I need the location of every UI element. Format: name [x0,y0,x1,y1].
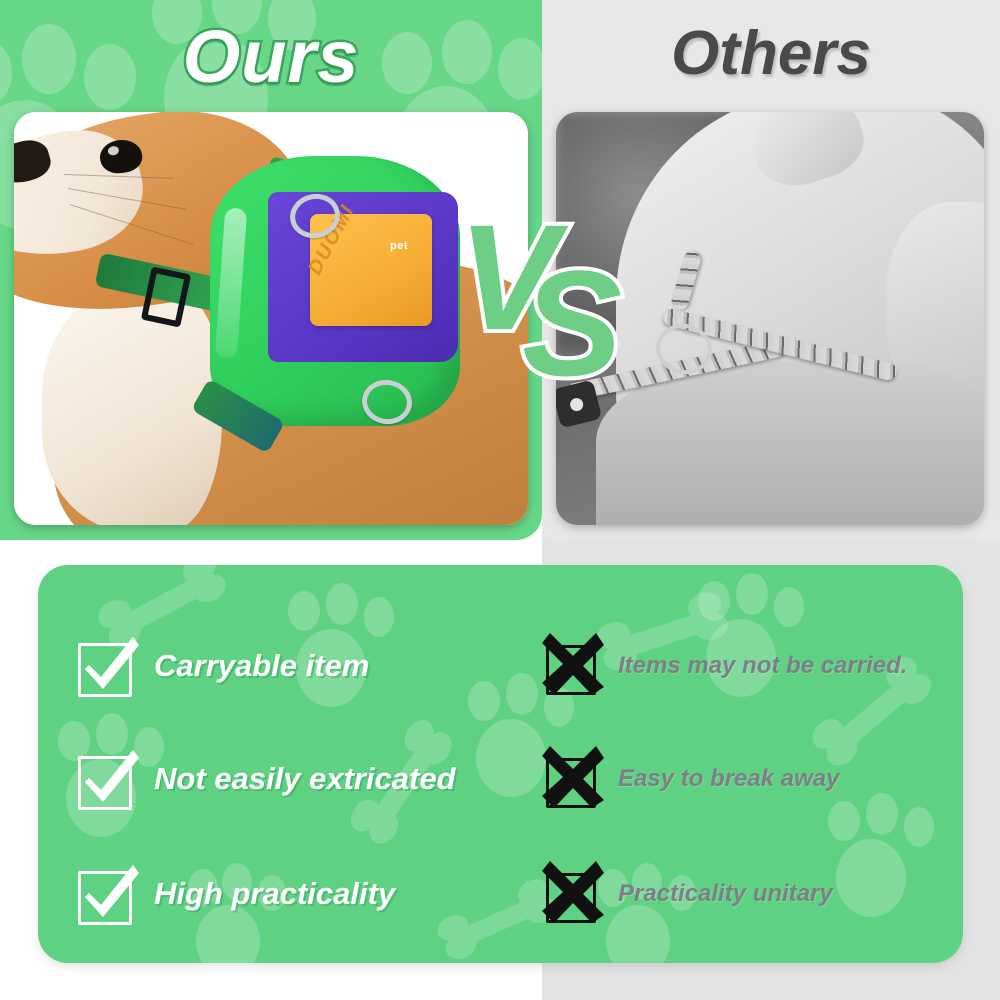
vs-letter-s: S [522,248,614,398]
feature-ours-cell: Carryable item [38,637,536,695]
check-icon [78,750,136,808]
feature-ours-label: High practicality [154,876,395,912]
feature-ours-label: Carryable item [154,648,369,684]
feature-ours-cell: High practicality [38,865,536,923]
feature-row: Carryable item Items may not be carried. [38,607,963,725]
others-title: Others [542,18,1000,89]
cross-icon [544,865,602,923]
features-panel: Carryable item Items may not be carried. [38,565,963,963]
ours-product-photo: DUOMI pet [14,112,528,525]
feature-others-label: Easy to break away [618,765,839,793]
cross-icon [544,637,602,695]
vs-badge: V S [452,196,632,396]
ours-title: Ours [0,14,542,99]
feature-ours-cell: Not easily extricated [38,750,536,808]
feature-ours-label: Not easily extricated [154,761,456,797]
comparison-infographic: Ours Others DUOMI pet [0,0,1000,1000]
dog-neck-fur [596,362,984,525]
feature-others-label: Items may not be carried. [618,652,907,680]
check-icon [78,637,136,695]
check-icon [78,865,136,923]
feature-row: Not easily extricated Easy to break away [38,720,963,838]
feature-others-label: Practicality unitary [618,880,833,908]
feature-others-cell: Easy to break away [536,750,963,808]
feature-others-cell: Practicality unitary [536,865,963,923]
feature-row: High practicality Practicality unitary [38,835,963,953]
feature-rows: Carryable item Items may not be carried. [38,565,963,963]
cross-icon [544,750,602,808]
feature-others-cell: Items may not be carried. [536,637,963,695]
backpack-pet-badge: pet [390,240,408,252]
